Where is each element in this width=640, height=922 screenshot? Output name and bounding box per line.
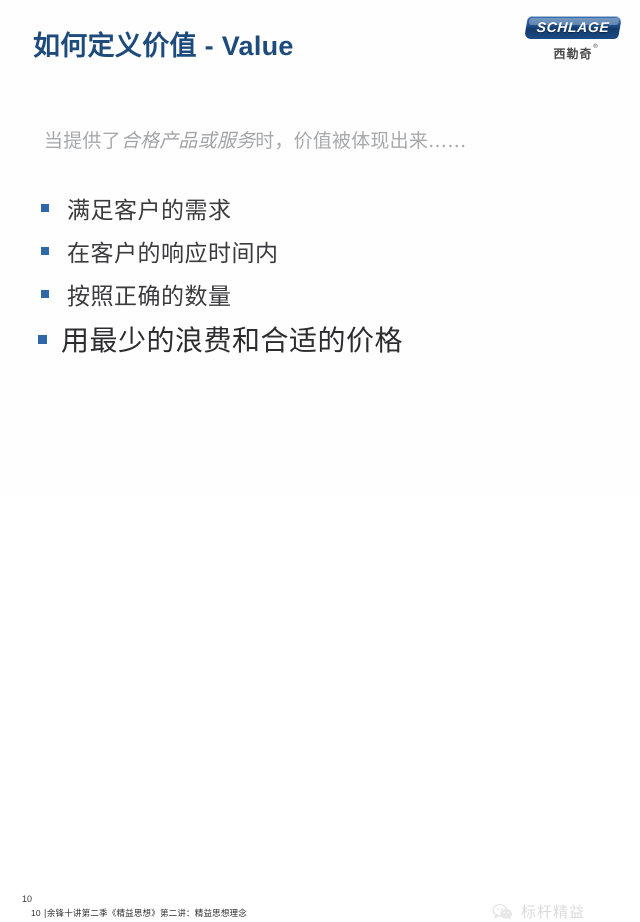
subtitle-tail: 时，价值被体现出来…… [255,130,466,152]
subtitle: 当提供了合格产品或服务时，价值被体现出来…… [44,126,466,153]
watermark-label: 标杆精益 [521,901,585,922]
schlage-logo-mark: SCHLAGE [524,16,622,39]
bullet-list: 满足客户的需求 在客户的响应时间内 按照正确的数量 用最少的浪费和合适的价格 [38,186,598,363]
slide-header: 如何定义价值 - Value SCHLAGE 西勒奇® [0,0,640,86]
schlage-logo: SCHLAGE 西勒奇® [524,16,622,72]
list-item: 用最少的浪费和合适的价格 [38,315,598,363]
bullet-square-icon [41,204,49,212]
subtitle-lead: 当提供了 [44,130,121,152]
page-title: 如何定义价值 - Value [33,24,294,63]
schlage-chinese-name-text: 西勒奇 [553,47,592,61]
list-item-label: 用最少的浪费和合适的价格 [61,319,403,359]
schlage-chinese-name: 西勒奇® [553,45,592,62]
footer-source-line: 10 |余锋十讲第二季《精益思想》第二讲：精益思想理念 [31,907,247,919]
list-item: 在客户的响应时间内 [38,229,598,272]
list-item: 满足客户的需求 [38,186,598,229]
bullet-square-icon [41,247,49,255]
subtitle-emphasis: 合格产品或服务 [121,130,255,152]
list-item-label: 满足客户的需求 [67,191,232,225]
watermark: 标杆精益 [492,901,585,922]
bullet-square-icon [41,290,49,298]
list-item-label: 在客户的响应时间内 [67,234,279,268]
bullet-square-icon [38,335,47,344]
schlage-wordmark: SCHLAGE [526,19,621,35]
list-item-label: 按照正确的数量 [67,277,232,311]
slide-canvas: 如何定义价值 - Value SCHLAGE 西勒奇® 当提供了合格产品或服务时… [0,0,640,496]
wechat-icon [492,903,514,921]
slide-number: 10 [22,894,32,904]
trademark-icon: ® [593,43,600,50]
footer-page-number: 10 [31,908,41,918]
slide-footer: 10 10 |余锋十讲第二季《精益思想》第二讲：精益思想理念 标杆精益 [0,446,640,496]
footer-source-text: 余锋十讲第二季《精益思想》第二讲：精益思想理念 [47,909,247,919]
list-item: 按照正确的数量 [38,272,598,315]
